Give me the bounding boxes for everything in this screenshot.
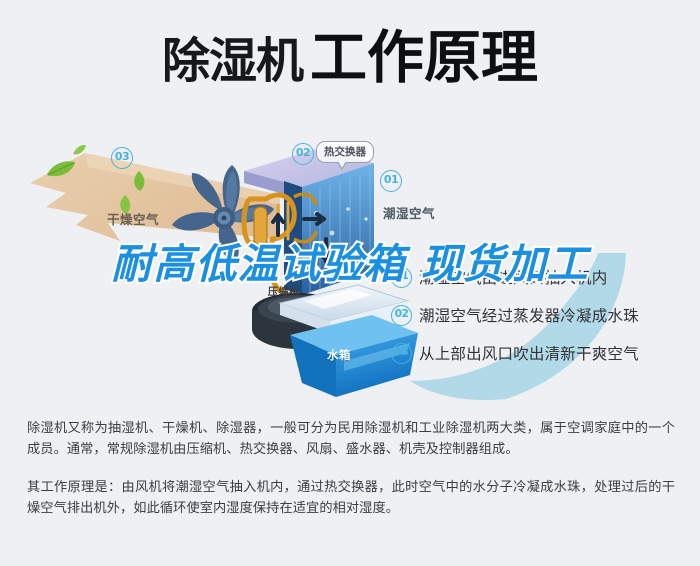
leaf-icon (73, 145, 87, 156)
legend-badge-02: 02 (391, 305, 412, 326)
page-title-part2: 工作原理 (310, 25, 538, 91)
legend-item: 01 潮湿空气由进风口抽入机内 (391, 266, 691, 288)
legend-text-01: 潮湿空气由进风口抽入机内 (419, 266, 607, 288)
legend-item: 03 从上部出风口吹出清新干爽空气 (391, 342, 691, 364)
heat-exchanger-callout: 热交换器 (316, 141, 374, 163)
page-title: 除湿机工作原理 (0, 30, 700, 87)
diagram-badge-02: 02 (292, 143, 314, 165)
infographic-page: 除湿机工作原理 (0, 0, 700, 566)
legend-badge-01: 01 (391, 267, 412, 288)
callout-tail-icon (337, 162, 347, 170)
body-paragraph-1: 除湿机又称为抽湿机、干燥机、除湿器，一般可分为民用除湿机和工业除湿机两大类，属于… (27, 418, 675, 460)
heat-exchanger-callout-label: 热交换器 (324, 146, 366, 158)
label-compressor: 压缩机 (268, 283, 300, 298)
leaf-icon (131, 171, 147, 191)
legend-list: 01 潮湿空气由进风口抽入机内 02 潮湿空气经过蒸发器冷凝成水珠 03 从上部… (391, 266, 691, 380)
legend-text-03: 从上部出风口吹出清新干爽空气 (419, 342, 639, 364)
label-dry-air: 干燥空气 (107, 209, 159, 228)
legend-text-02: 潮湿空气经过蒸发器冷凝成水珠 (419, 304, 639, 326)
diagram-badge-03: 03 (111, 147, 133, 169)
page-title-part1: 除湿机 (162, 33, 303, 89)
legend-item: 02 潮湿空气经过蒸发器冷凝成水珠 (391, 304, 691, 326)
label-water-tank: 水箱 (327, 347, 351, 363)
body-copy: 除湿机又称为抽湿机、干燥机、除湿器，一般可分为民用除湿机和工业除湿机两大类，属于… (27, 418, 675, 519)
legend-badge-03: 03 (391, 343, 412, 364)
label-moist-air: 潮湿空气 (383, 203, 435, 222)
leaf-icon (46, 161, 76, 179)
diagram-badge-01: 01 (380, 170, 402, 192)
body-paragraph-2: 其工作原理是：由风机将潮湿空气抽入机内，通过热交换器，此时空气中的水分子冷凝成水… (27, 477, 675, 519)
